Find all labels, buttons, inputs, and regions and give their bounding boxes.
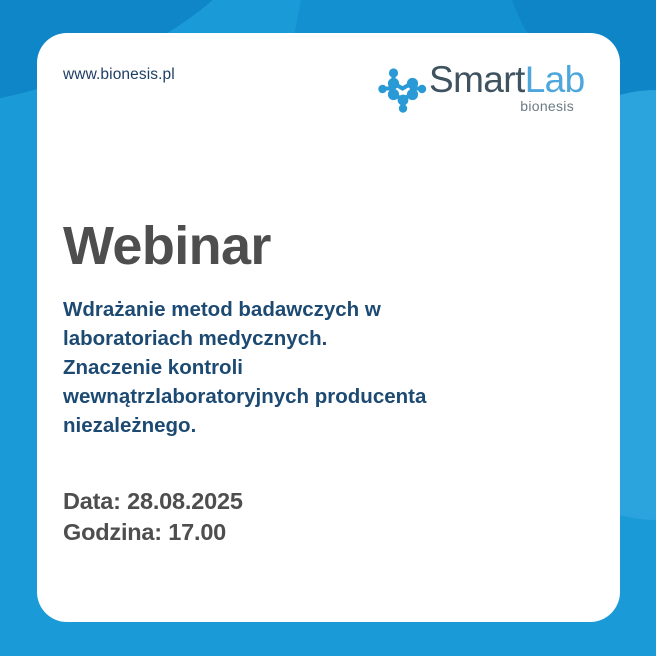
subtitle-line: laboratoriach medycznych.: [63, 324, 553, 353]
smartlab-logo: SmartLab bionesis: [375, 58, 575, 126]
event-time: Godzina: 17.00: [63, 517, 573, 548]
subtitle-line: niezależnego.: [63, 411, 553, 440]
card-body: Webinar Wdrażanie metod badawczych w lab…: [63, 218, 573, 547]
logo-name: SmartLab: [429, 58, 585, 102]
webinar-subtitle: Wdrażanie metod badawczych w laboratoria…: [63, 295, 553, 441]
subtitle-line: wewnątrzlaboratoryjnych producenta: [63, 382, 553, 411]
logo-tagline: bionesis: [520, 98, 574, 114]
site-url-text: www.bionesis.pl: [63, 66, 175, 84]
logo-word-smart: Smart: [429, 59, 525, 100]
card-header: www.bionesis.pl: [37, 33, 620, 143]
webinar-poster: www.bionesis.pl: [0, 0, 656, 656]
page-title: Webinar: [63, 218, 573, 275]
molecule-icon: [375, 61, 431, 117]
content-card: www.bionesis.pl: [37, 33, 620, 622]
logo-wordmark: SmartLab bionesis: [429, 58, 575, 120]
event-date: Data: 28.08.2025: [63, 486, 573, 517]
logo-word-lab: Lab: [525, 59, 585, 100]
subtitle-line: Znaczenie kontroli: [63, 353, 553, 382]
subtitle-line: Wdrażanie metod badawczych w: [63, 295, 553, 324]
event-details: Data: 28.08.2025 Godzina: 17.00: [63, 486, 573, 547]
